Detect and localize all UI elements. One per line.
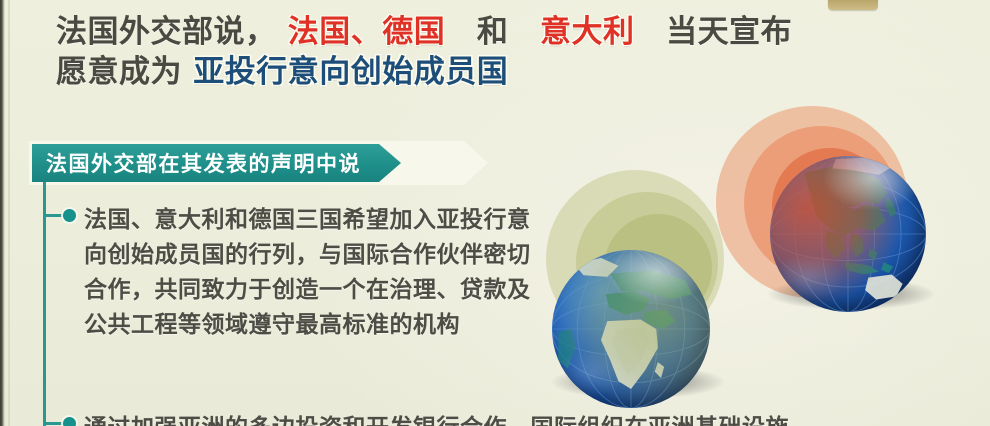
- globe-asia-oceania: [770, 156, 926, 312]
- globe-left-map: [552, 250, 710, 408]
- headline-seg-willing: 愿意成为: [56, 54, 182, 90]
- headline-seg-announce: 当天宣布: [666, 14, 792, 50]
- bullet-dot-2: [63, 417, 76, 426]
- infographic-poster: 法国外交部说， 法国、德国 和 意大利 当天宣布 愿意成为 亚投行意向创始成员国…: [0, 0, 990, 426]
- section-banner: 法国外交部在其发表的声明中说: [32, 144, 401, 182]
- headline-seg-source: 法国外交部说，: [56, 14, 277, 50]
- left-edge-hairline: [8, 0, 10, 426]
- bullet-paragraph-1: 法国、意大利和德国三国希望加入亚投行意向创始成员国的行列，与国际合作伙伴密切合作…: [84, 203, 536, 343]
- headline-line-2: 愿意成为 亚投行意向创始成员国: [56, 52, 956, 92]
- headline-seg-aiib-founding-member: 亚投行意向创始成员国: [193, 54, 508, 90]
- headline-seg-france-germany: 法国、德国: [288, 14, 446, 50]
- headline-seg-italy: 意大利: [540, 14, 635, 50]
- globe-illustration: [530, 110, 990, 426]
- section-banner-label: 法国外交部在其发表的声明中说: [46, 148, 361, 178]
- headline: 法国外交部说， 法国、德国 和 意大利 当天宣布 愿意成为 亚投行意向创始成员国: [56, 12, 956, 93]
- globe-right-map: [770, 156, 926, 312]
- top-ornament-clipped: [828, 0, 878, 10]
- bullet-dot-1: [63, 209, 76, 222]
- globe-europe-africa: [552, 250, 710, 408]
- headline-seg-and: 和: [477, 14, 509, 50]
- headline-line-1: 法国外交部说， 法国、德国 和 意大利 当天宣布: [56, 12, 956, 52]
- timeline-rail: [43, 182, 46, 426]
- left-edge-border: [0, 0, 5, 426]
